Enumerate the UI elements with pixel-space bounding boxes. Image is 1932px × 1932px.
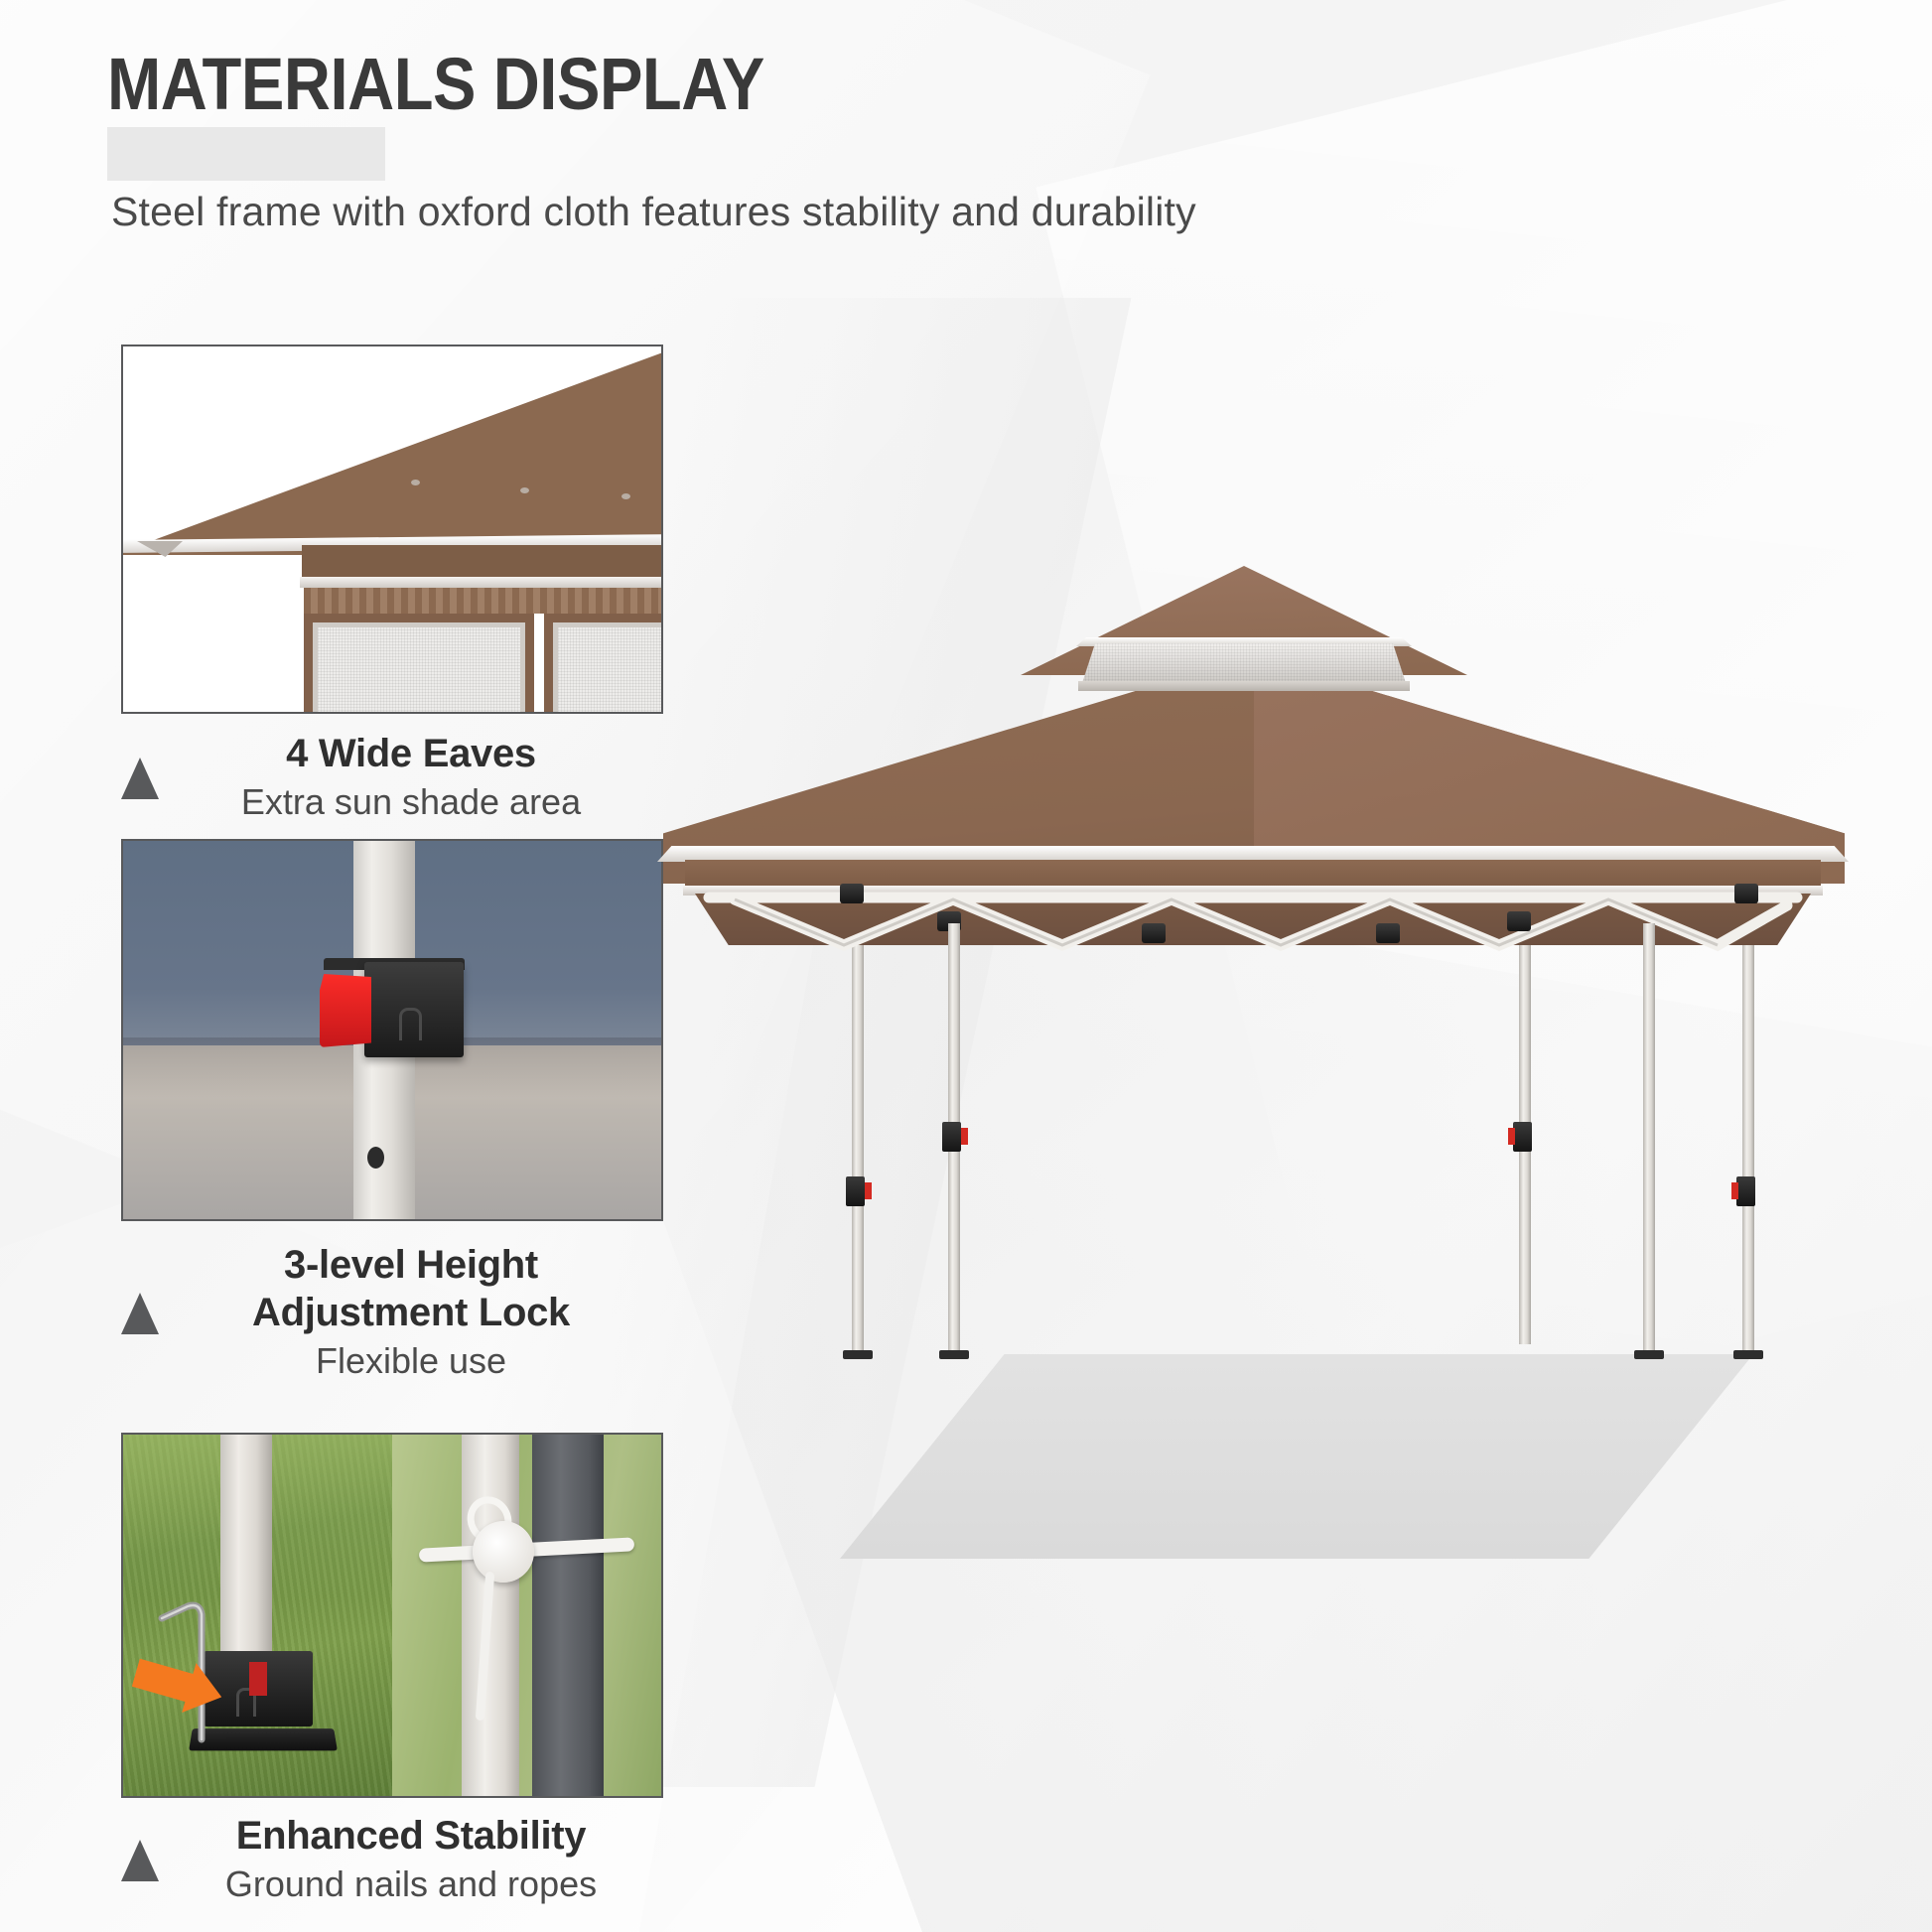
triangle-up-icon bbox=[121, 758, 159, 799]
caption-text-height-lock: 3-level Height Adjustment Lock Flexible … bbox=[159, 1242, 663, 1384]
gazebo-connector-center-left bbox=[1142, 923, 1166, 943]
caption-stability: Enhanced Stability Ground nails and rope… bbox=[121, 1813, 663, 1908]
page-subtitle: Steel frame with oxford cloth features s… bbox=[111, 189, 1196, 235]
gazebo-foot-front-right bbox=[1634, 1350, 1664, 1359]
photo1-valance bbox=[304, 588, 663, 614]
photo3-right-rope-knot bbox=[392, 1435, 661, 1796]
photo1-mesh-panel-right bbox=[544, 614, 663, 714]
photo1-rivet-a bbox=[411, 480, 420, 485]
photo3-red-tab bbox=[249, 1662, 267, 1696]
caption-text-stability: Enhanced Stability Ground nails and rope… bbox=[159, 1813, 663, 1908]
gazebo-height-lock-front-left[interactable] bbox=[942, 1122, 961, 1152]
photo1-mesh-fabric-left bbox=[313, 622, 525, 714]
caption-subtitle: Flexible use bbox=[159, 1338, 663, 1385]
photo1-rivet-b bbox=[520, 487, 529, 493]
gazebo-height-lock-back-left[interactable] bbox=[846, 1176, 865, 1206]
caption-subtitle: Extra sun shade area bbox=[159, 779, 663, 826]
photo2-pole-hole bbox=[367, 1147, 384, 1169]
caption-title: 4 Wide Eaves bbox=[159, 731, 663, 777]
caption-title-line2: Adjustment Lock bbox=[159, 1290, 663, 1336]
feature-photo-height-lock bbox=[121, 839, 663, 1221]
triangle-up-icon bbox=[121, 1293, 159, 1334]
feature-photo-stability bbox=[121, 1433, 663, 1798]
photo1-fascia bbox=[302, 545, 663, 579]
gazebo-leg-back-left bbox=[852, 894, 864, 1354]
infographic-page: MATERIALS DISPLAY Steel frame with oxfor… bbox=[0, 0, 1932, 1932]
gazebo-leg-back-right bbox=[1742, 894, 1754, 1354]
caption-title: Enhanced Stability bbox=[159, 1813, 663, 1860]
gazebo-foot-back-right bbox=[1733, 1350, 1763, 1359]
gazebo-height-lock-back-right[interactable] bbox=[1736, 1176, 1755, 1206]
photo3-leg-pole bbox=[220, 1435, 272, 1681]
gazebo-lock-lever-front-left[interactable] bbox=[961, 1128, 968, 1145]
gazebo-connector-left bbox=[840, 884, 864, 903]
gazebo-height-lock-mid-right[interactable] bbox=[1513, 1122, 1532, 1152]
triangle-up-icon bbox=[121, 1840, 159, 1881]
gazebo-lock-lever-mid-right[interactable] bbox=[1508, 1128, 1515, 1145]
photo2-lock-slot bbox=[399, 1008, 422, 1040]
photo1-mesh-panel-left bbox=[304, 614, 534, 714]
title-highlight-band bbox=[107, 127, 385, 181]
gazebo-leg-mid-right bbox=[1519, 892, 1531, 1344]
page-title: MATERIALS DISPLAY bbox=[107, 42, 764, 126]
gazebo-connector-center-right bbox=[1376, 923, 1400, 943]
photo1-fascia-trim bbox=[300, 577, 663, 588]
caption-text-wide-eaves: 4 Wide Eaves Extra sun shade area bbox=[159, 731, 663, 826]
gazebo-vent-bottom-trim bbox=[1078, 681, 1410, 691]
caption-wide-eaves: 4 Wide Eaves Extra sun shade area bbox=[121, 731, 663, 826]
gazebo-lock-lever-back-right[interactable] bbox=[1731, 1182, 1738, 1199]
photo3-soft-background bbox=[392, 1435, 661, 1796]
gazebo-vent-mesh bbox=[1082, 643, 1406, 683]
feature-photo-wide-eaves bbox=[121, 345, 663, 714]
photo1-rivet-c bbox=[621, 493, 630, 499]
photo3-dark-pole bbox=[532, 1435, 604, 1796]
gazebo-leg-front-right bbox=[1643, 923, 1655, 1354]
gazebo-connector-right bbox=[1734, 884, 1758, 903]
photo3-left-ground-nail bbox=[123, 1435, 392, 1796]
gazebo-foot-front-left bbox=[939, 1350, 969, 1359]
gazebo-lock-lever-back-left[interactable] bbox=[865, 1182, 872, 1199]
caption-height-lock: 3-level Height Adjustment Lock Flexible … bbox=[121, 1239, 663, 1388]
photo2-red-lever bbox=[320, 974, 371, 1047]
gazebo-connector-inner-right bbox=[1507, 911, 1531, 931]
gazebo-foot-back-left bbox=[843, 1350, 873, 1359]
photo1-mesh-fabric-right bbox=[553, 622, 663, 714]
caption-title-line1: 3-level Height bbox=[159, 1242, 663, 1289]
caption-subtitle: Ground nails and ropes bbox=[159, 1862, 663, 1908]
